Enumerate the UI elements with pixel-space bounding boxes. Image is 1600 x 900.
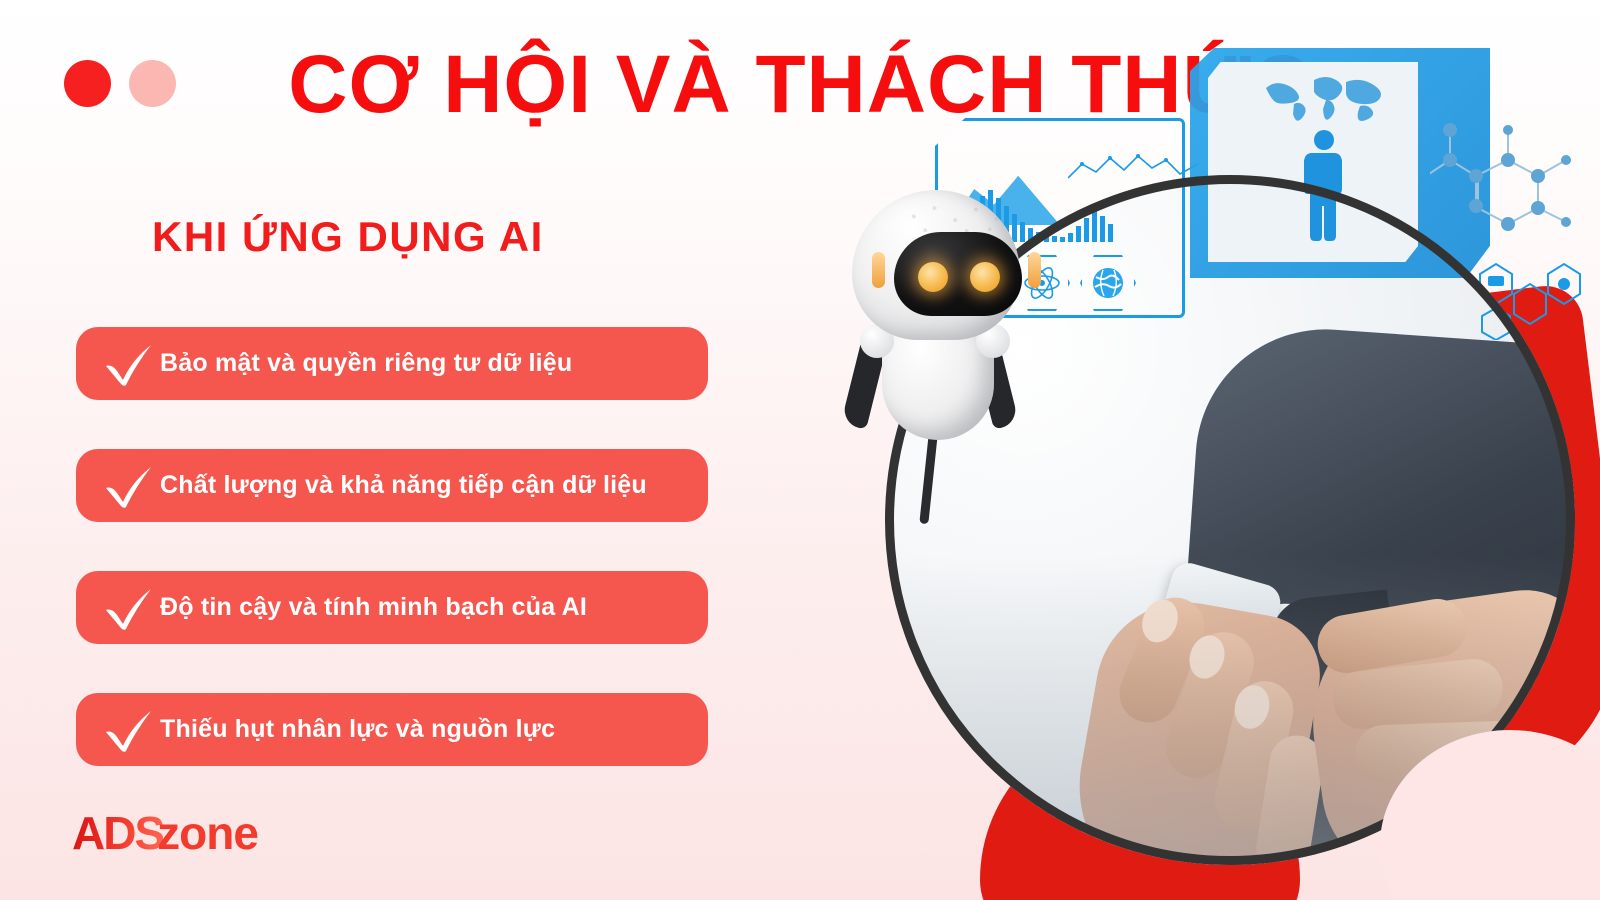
header-dots: [64, 60, 176, 107]
list-item-label: Bảo mật và quyền riêng tư dữ liệu: [160, 349, 572, 378]
check-icon: [98, 340, 160, 388]
list-item[interactable]: Độ tin cậy và tính minh bạch của AI: [76, 571, 708, 644]
check-icon: [98, 462, 160, 510]
check-icon: [98, 706, 160, 754]
list-item-label: Độ tin cậy và tính minh bạch của AI: [160, 593, 587, 622]
dot-pale-icon: [129, 60, 176, 107]
hero-artwork: [830, 0, 1600, 900]
robot-eye-right: [970, 262, 1000, 292]
list-item[interactable]: Thiếu hụt nhân lực và nguồn lực: [76, 693, 708, 766]
brand-logo[interactable]: ADS zone: [72, 806, 258, 858]
check-icon: [98, 584, 160, 632]
list-item[interactable]: Chất lượng và khả năng tiếp cận dữ liệu: [76, 449, 708, 522]
list-item-label: Chất lượng và khả năng tiếp cận dữ liệu: [160, 471, 647, 500]
checklist: Bảo mật và quyền riêng tư dữ liệu Chất l…: [76, 327, 708, 766]
dot-solid-icon: [64, 60, 111, 107]
list-item-label: Thiếu hụt nhân lực và nguồn lực: [160, 715, 555, 744]
molecule-icon: [1430, 110, 1600, 240]
robot-ear-left: [872, 252, 885, 288]
logo-zone-text: zone: [157, 806, 258, 860]
robot-head: [852, 190, 1020, 340]
robot-ear-right: [1028, 252, 1041, 288]
robot-visor: [894, 232, 1022, 316]
logo-ads-text: ADS: [72, 806, 163, 860]
page-subtitle: KHI ỨNG DỤNG AI: [152, 216, 544, 258]
robot-eye-left: [918, 262, 948, 292]
ai-robot: [830, 190, 1060, 460]
list-item[interactable]: Bảo mật và quyền riêng tư dữ liệu: [76, 327, 708, 400]
world-map-icon: [1260, 70, 1390, 125]
